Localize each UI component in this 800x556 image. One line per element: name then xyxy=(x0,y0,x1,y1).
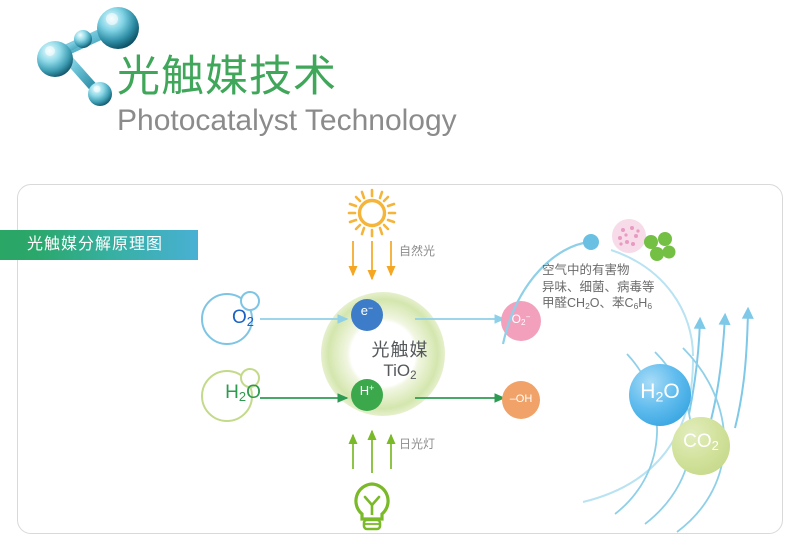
hydroxyl-label: –OH xyxy=(504,393,538,405)
page-subtitle: Photocatalyst Technology xyxy=(117,106,457,136)
water-byproduct-label: H2O xyxy=(629,380,691,406)
catalyst-formula-label: TiO2 xyxy=(330,361,470,382)
bacteria-cluster-icon xyxy=(644,232,676,261)
light-bulb-icon xyxy=(356,484,388,529)
electron-label: e− xyxy=(350,303,384,318)
sunlight-label: 自然光 xyxy=(399,244,415,259)
proton-label: H+ xyxy=(350,383,384,398)
pollutant-line-1: 空气中的有害物 xyxy=(542,262,655,279)
lamp-label: 日光灯 xyxy=(399,437,415,452)
pollutant-line-2: 异味、细菌、病毒等 xyxy=(542,279,655,296)
water-label: H2O xyxy=(210,382,276,404)
lamp-arrows xyxy=(353,431,391,473)
catalyst-name-label: 光触媒 xyxy=(330,336,470,362)
pollutant-line-3: 甲醛CH2O、苯C6H6 xyxy=(542,295,655,315)
pollutant-description: 空气中的有害物 异味、细菌、病毒等 甲醛CH2O、苯C6H6 xyxy=(542,262,655,315)
co2-byproduct-label: CO2 xyxy=(670,431,732,453)
sunlight-arrows xyxy=(353,241,391,279)
page-header: 光触媒技术 Photocatalyst Technology xyxy=(0,0,800,170)
page-title: 光触媒技术 xyxy=(117,56,337,99)
page-root: 光触媒技术 Photocatalyst Technology xyxy=(0,0,800,556)
flow-arc-endpoint xyxy=(583,234,599,250)
sun-icon xyxy=(349,190,395,236)
diagram-badge: 光触媒分解原理图 xyxy=(0,230,198,260)
rising-arrows xyxy=(689,310,748,428)
oxygen-label: O2 xyxy=(217,307,269,329)
superoxide-label: O2− xyxy=(504,312,538,327)
virus-cluster-icon xyxy=(612,219,646,253)
